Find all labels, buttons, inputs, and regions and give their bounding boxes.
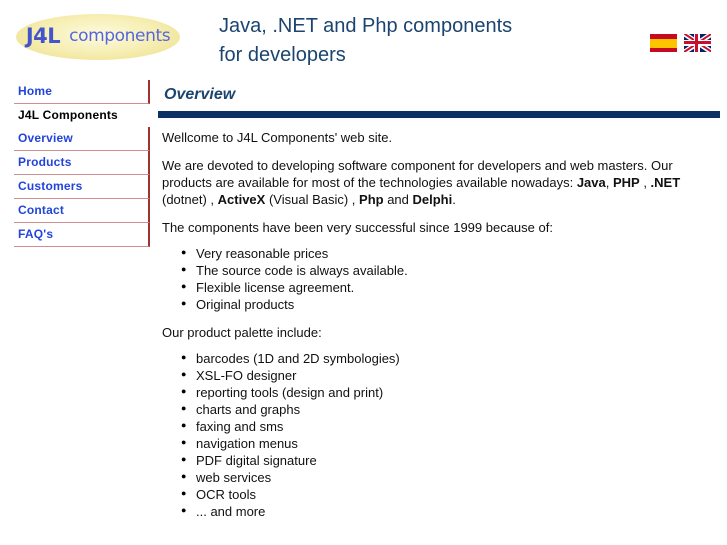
sidebar-item-overview[interactable]: Overview: [14, 127, 150, 151]
tech-php: Php: [359, 192, 384, 207]
tech-sep-2: ,: [640, 175, 651, 190]
technologies-paragraph: We are devoted to developing software co…: [162, 157, 682, 208]
spanish-flag-icon[interactable]: [649, 33, 678, 53]
tech-dotnet: .NET: [651, 175, 681, 190]
logo-secondary-text: components: [69, 26, 170, 46]
uk-flag-icon[interactable]: [683, 33, 712, 53]
list-item: XSL-FO designer: [196, 367, 720, 384]
logo-primary-text: J4L: [26, 24, 60, 48]
content-heading: Overview: [164, 86, 720, 104]
main-content: Overview Wellcome to J4L Components' web…: [158, 80, 720, 520]
success-reasons-list: Very reasonable pricesThe source code is…: [162, 245, 720, 313]
list-item: navigation menus: [196, 435, 720, 452]
site-header: J4L components Java, .NET and Php compon…: [0, 0, 727, 80]
list-item: barcodes (1D and 2D symbologies): [196, 350, 720, 367]
tech-java: Java: [577, 175, 606, 190]
sidebar-navigation: HomeJ4L ComponentsOverviewProductsCustom…: [0, 80, 150, 247]
list-item: ... and more: [196, 503, 720, 520]
tech-php-upper: PHP: [613, 175, 640, 190]
header-title-line-1: Java, .NET and Php components: [219, 12, 512, 41]
list-item: faxing and sms: [196, 418, 720, 435]
list-item: charts and graphs: [196, 401, 720, 418]
tech-sep-4: (Visual Basic) ,: [265, 192, 359, 207]
sidebar-item-customers[interactable]: Customers: [14, 175, 150, 199]
list-item: The source code is always available.: [196, 262, 720, 279]
list-item: Original products: [196, 296, 720, 313]
list-item: PDF digital signature: [196, 452, 720, 469]
header-title-line-2: for developers: [219, 41, 512, 70]
list-item: web services: [196, 469, 720, 486]
sidebar-item-j4l-components: J4L Components: [14, 104, 150, 127]
list-item: Very reasonable prices: [196, 245, 720, 262]
heading-divider: [158, 111, 720, 118]
sidebar-item-faq-s[interactable]: FAQ's: [14, 223, 150, 247]
success-heading: The components have been very successful…: [162, 219, 682, 236]
palette-heading: Our product palette include:: [162, 324, 682, 341]
tech-delphi: Delphi: [413, 192, 453, 207]
list-item: OCR tools: [196, 486, 720, 503]
intro-paragraph: Wellcome to J4L Components' web site.: [162, 129, 682, 146]
sidebar-item-contact[interactable]: Contact: [14, 199, 150, 223]
product-palette-list: barcodes (1D and 2D symbologies)XSL-FO d…: [162, 350, 720, 520]
sidebar-item-home[interactable]: Home: [14, 80, 150, 104]
list-item: Flexible license agreement.: [196, 279, 720, 296]
sidebar-item-products[interactable]: Products: [14, 151, 150, 175]
page-title: Java, .NET and Php components for develo…: [219, 12, 512, 70]
tech-sep-5: and: [384, 192, 413, 207]
language-selector[interactable]: [649, 33, 712, 53]
list-item: reporting tools (design and print): [196, 384, 720, 401]
tech-sep-1: ,: [606, 175, 613, 190]
site-logo[interactable]: J4L components: [8, 8, 188, 64]
uk-flag-cross-red-vertical: [695, 34, 698, 52]
spanish-flag-yellow-band: [650, 39, 677, 48]
logo-text: J4L components: [8, 8, 188, 64]
tech-sep-3: (dotnet) ,: [162, 192, 218, 207]
tech-activex: ActiveX: [218, 192, 266, 207]
tech-sep-6: .: [452, 192, 456, 207]
